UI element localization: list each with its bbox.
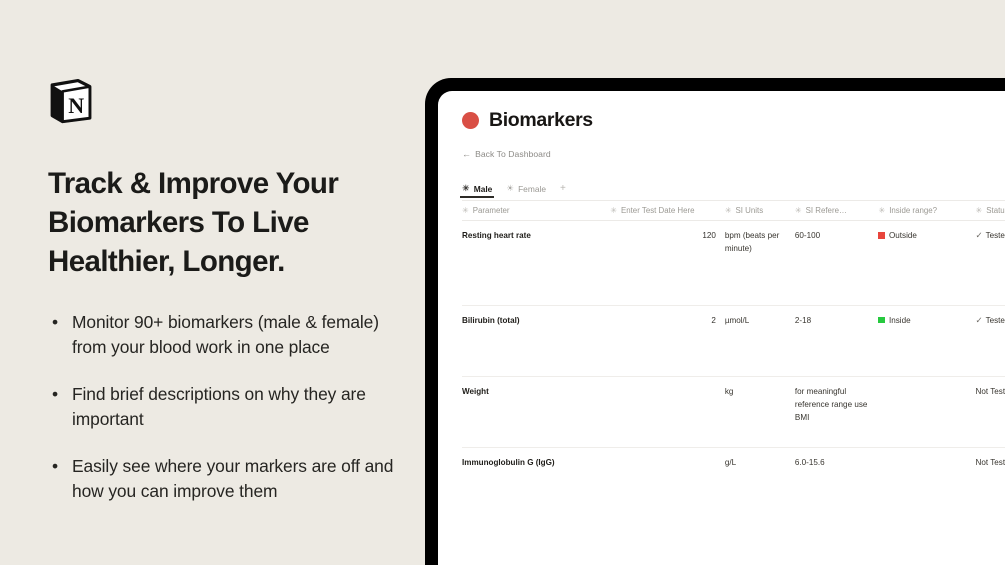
page-title: Track & Improve Your Biomarkers To Live … [48,164,408,282]
range-chip: Inside [878,314,910,327]
cell-si-units[interactable]: bpm (beats per minute) [725,221,795,306]
cell-si-units[interactable]: kg [725,376,795,447]
list-item: • Find brief descriptions on why they ar… [48,382,408,432]
parameter-name: Weight [462,387,489,396]
property-icon: ✳ [795,206,802,215]
column-label: SI Refere… [806,206,847,215]
property-icon: ✳ [725,206,732,215]
cell-status[interactable]: ✓Tested [976,221,1005,306]
cell-si-reference[interactable]: for meaningful reference range use BMI [795,376,879,447]
cell-parameter[interactable]: Immunoglobulin G (IgG) [462,448,610,565]
arrow-left-icon: ← [462,150,471,159]
red-square-icon [878,232,885,239]
column-label: Status [986,206,1005,215]
cell-si-reference[interactable]: 6.0-15.6 [795,448,879,565]
status-badge: Not Tested [976,387,1005,396]
bullet-text: Monitor 90+ biomarkers (male & female) f… [72,312,379,357]
table-row[interactable]: Bilirubin (total)2µmol/L2-18Inside✓Teste… [462,305,1005,376]
list-item: • Easily see where your markers are off … [48,454,408,504]
column-header-status[interactable]: ✳Status [976,201,1005,221]
cell-parameter[interactable]: Bilirubin (total) [462,305,610,376]
check-icon: ✓ [976,315,983,325]
tab-label: Male [474,184,493,194]
cell-status[interactable]: ✓Tested [976,305,1005,376]
tab-male[interactable]: ☀ Male [462,183,492,198]
cell-parameter[interactable]: Resting heart rate [462,221,610,306]
promo-screenshot: N Track & Improve Your Biomarkers To Liv… [0,0,1005,565]
property-icon: ✳ [878,206,885,215]
back-link-label: Back To Dashboard [475,149,551,159]
check-icon: ✓ [976,230,983,240]
table-header-row: ✳Parameter ✳Enter Test Date Here ✳SI Uni… [462,201,1005,221]
table-body: Resting heart rate120bpm (beats per minu… [462,221,1005,565]
database-title: Biomarkers [489,109,593,132]
cell-si-reference[interactable]: 60-100 [795,221,879,306]
cell-test-value[interactable]: 120 [610,221,725,306]
notion-logo-icon: N [48,78,94,124]
page-header: Biomarkers [462,109,1005,132]
status-badge: Tested [986,231,1005,240]
cell-inside-range[interactable] [878,376,975,447]
column-header-si-units[interactable]: ✳SI Units [725,201,795,221]
person-icon: ☀ [506,183,514,194]
bullet-marker-icon: • [52,454,58,479]
cell-si-units[interactable]: µmol/L [725,305,795,376]
range-label: Inside [889,314,911,327]
column-header-si-reference[interactable]: ✳SI Refere… [795,201,879,221]
column-label: Parameter [473,206,510,215]
parameter-name: Bilirubin (total) [462,316,520,325]
table-row[interactable]: Weightkgfor meaningful reference range u… [462,376,1005,447]
column-header-test-date[interactable]: ✳Enter Test Date Here [610,201,725,221]
column-label: Enter Test Date Here [621,206,695,215]
cell-inside-range[interactable]: Outside [878,221,975,306]
view-tab-bar: ☀ Male ☀ Female + [462,181,1005,198]
headline-line-2: Biomarkers To Live [48,203,408,242]
notion-page: Biomarkers ← Back To Dashboard ☀ Male ☀ … [438,91,1005,565]
cell-parameter[interactable]: Weight [462,376,610,447]
range-chip: Outside [878,229,916,242]
column-label: SI Units [736,206,764,215]
tab-label: Female [518,184,546,194]
table-row[interactable]: Immunoglobulin G (IgG)g/L6.0-15.6Not Tes… [462,448,1005,565]
promo-panel: N Track & Improve Your Biomarkers To Liv… [48,78,408,504]
headline-line-1: Track & Improve Your [48,164,408,203]
cell-status[interactable]: Not Tested [976,448,1005,565]
list-item: • Monitor 90+ biomarkers (male & female)… [48,310,408,360]
cell-test-value[interactable]: 2 [610,305,725,376]
status-badge: Tested [986,316,1005,325]
property-icon: ✳ [976,206,983,215]
device-frame: Biomarkers ← Back To Dashboard ☀ Male ☀ … [425,78,1005,565]
bullet-text: Find brief descriptions on why they are … [72,384,366,429]
headline-line-3: Healthier, Longer. [48,242,408,281]
cell-si-units[interactable]: g/L [725,448,795,565]
svg-text:N: N [68,93,84,118]
property-icon: ✳ [462,206,469,215]
database-table-wrapper[interactable]: ✳Parameter ✳Enter Test Date Here ✳SI Uni… [462,200,1005,565]
back-to-dashboard-link[interactable]: ← Back To Dashboard [462,149,551,159]
parameter-name: Resting heart rate [462,231,531,240]
person-icon: ☀ [462,183,470,194]
biomarkers-table: ✳Parameter ✳Enter Test Date Here ✳SI Uni… [462,200,1005,565]
table-header: ✳Parameter ✳Enter Test Date Here ✳SI Uni… [462,201,1005,221]
table-row[interactable]: Resting heart rate120bpm (beats per minu… [462,221,1005,306]
bullet-text: Easily see where your markers are off an… [72,456,393,501]
cell-test-value[interactable] [610,448,725,565]
bullet-marker-icon: • [52,382,58,407]
add-view-button[interactable]: + [560,183,566,198]
property-icon: ✳ [610,206,617,215]
cell-inside-range[interactable]: Inside [878,305,975,376]
status-badge: Not Tested [976,458,1005,467]
bullet-marker-icon: • [52,310,58,335]
red-circle-icon [462,112,479,129]
range-label: Outside [889,229,917,242]
feature-bullet-list: • Monitor 90+ biomarkers (male & female)… [48,310,408,504]
column-header-inside-range[interactable]: ✳Inside range? [878,201,975,221]
cell-status[interactable]: Not Tested [976,376,1005,447]
column-label: Inside range? [889,206,937,215]
cell-si-reference[interactable]: 2-18 [795,305,879,376]
tab-female[interactable]: ☀ Female [506,183,546,198]
column-header-parameter[interactable]: ✳Parameter [462,201,610,221]
parameter-name: Immunoglobulin G (IgG) [462,458,555,467]
device-screen: Biomarkers ← Back To Dashboard ☀ Male ☀ … [438,91,1005,565]
cell-inside-range[interactable] [878,448,975,565]
green-square-icon [878,317,885,324]
cell-test-value[interactable] [610,376,725,447]
